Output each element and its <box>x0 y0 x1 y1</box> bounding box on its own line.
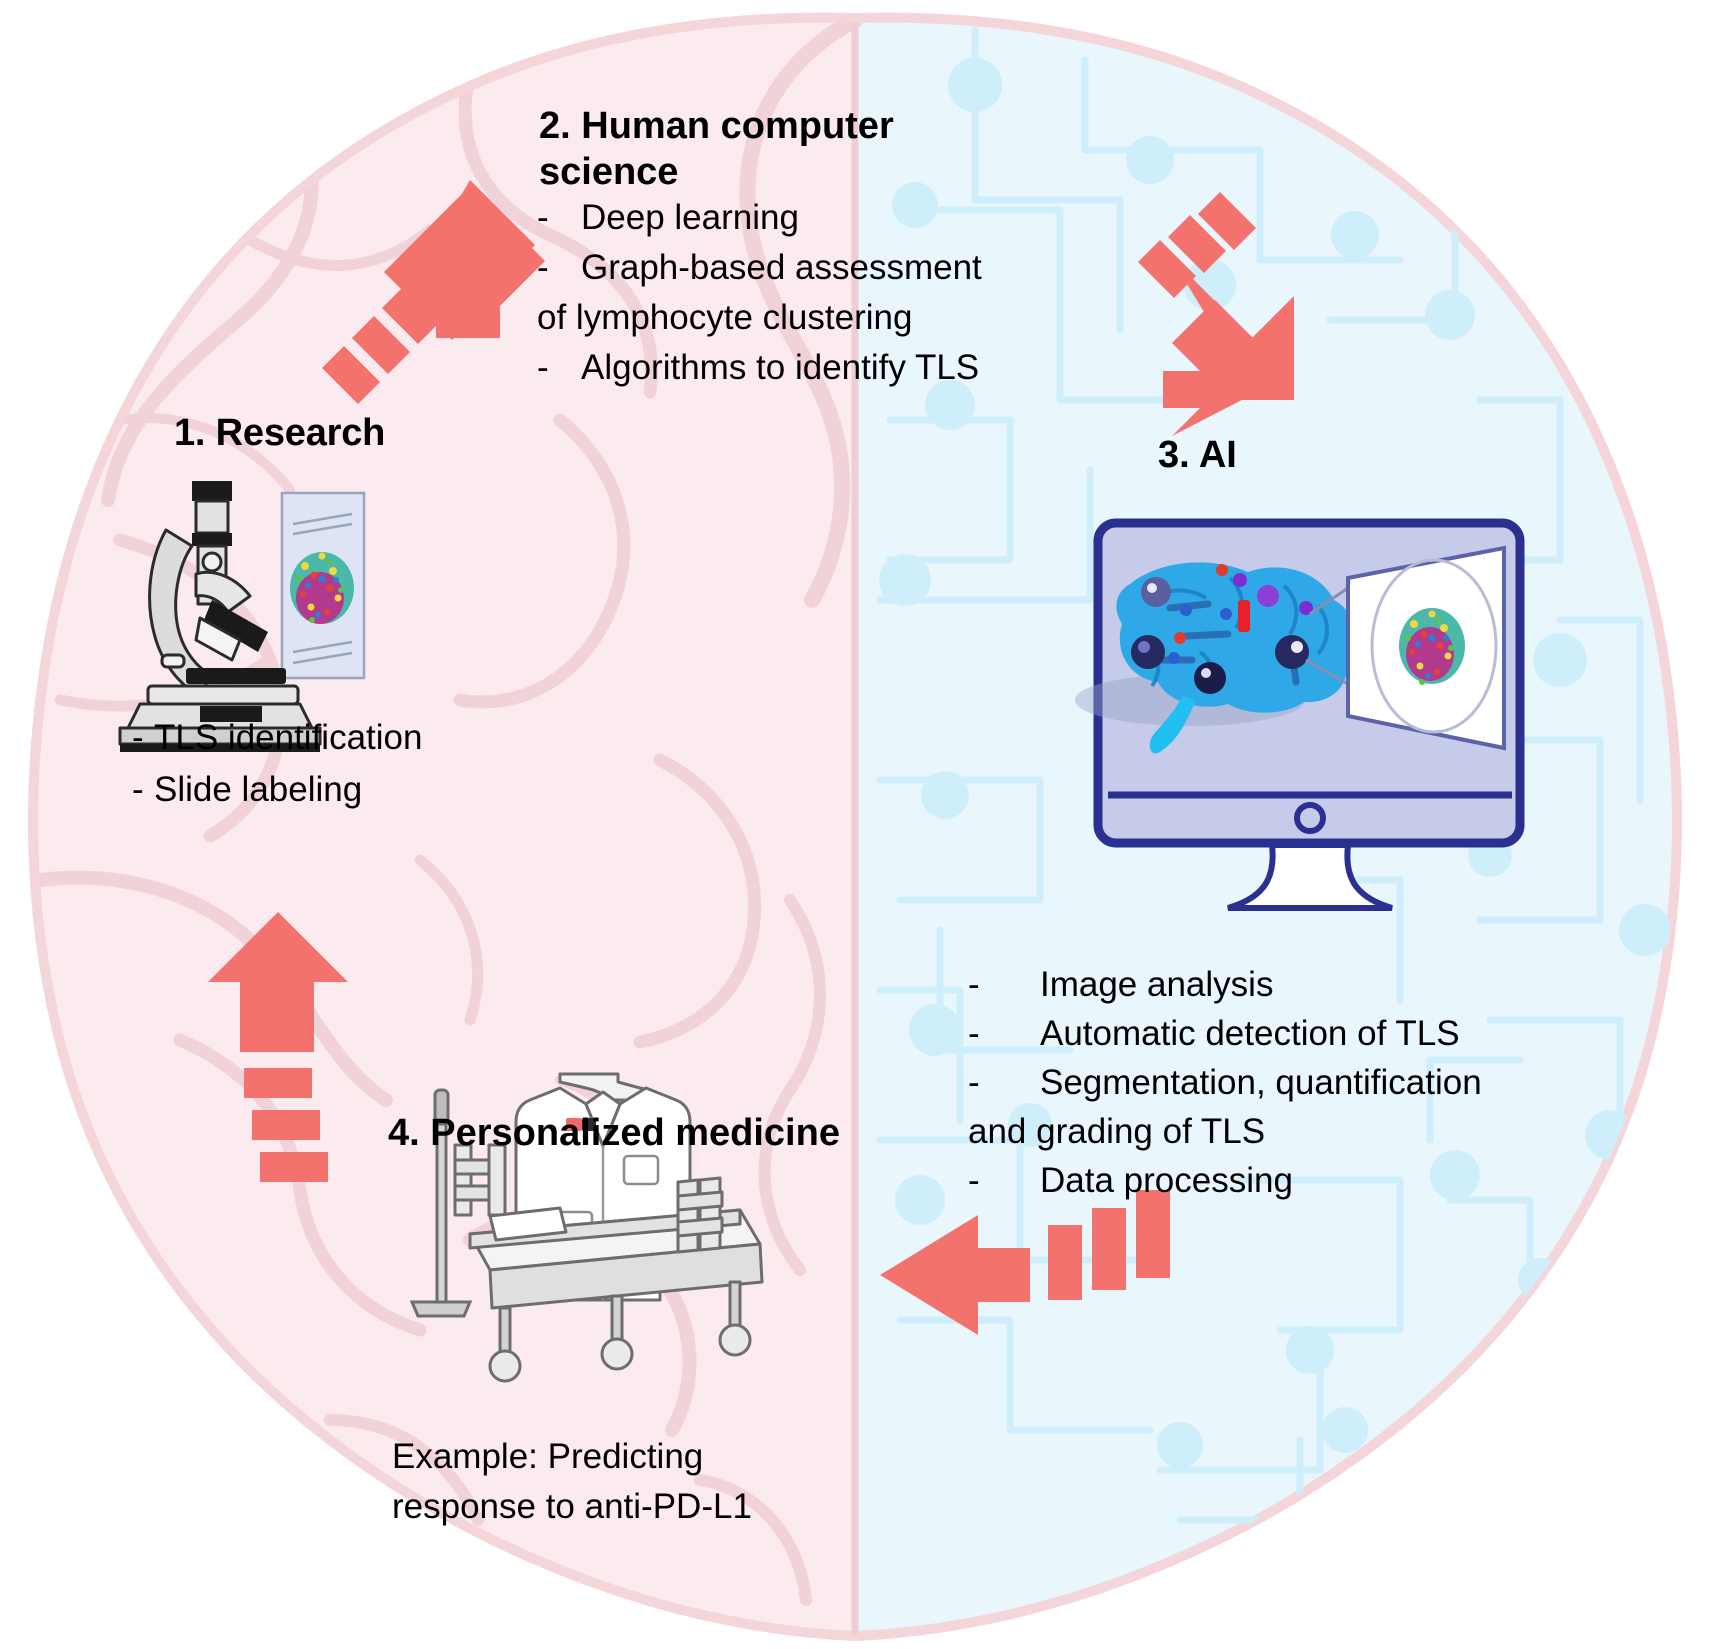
ai-bullet-item: - Data processing <box>968 1156 1482 1205</box>
research-bullets: - TLS identification - Slide labeling <box>132 712 422 816</box>
bullet-dash: - <box>968 1058 1040 1107</box>
hospital-bed-icon <box>455 1145 762 1381</box>
hcs-bullet-item: - Deep learning <box>537 193 982 243</box>
arrow-to-personalized-medicine <box>880 1190 1170 1335</box>
bullet-text: TLS identification <box>154 712 422 764</box>
figure-canvas: 1. Research - TLS identification - Slide… <box>0 0 1711 1649</box>
ai-bullet-item: - Image analysis <box>968 960 1482 1009</box>
hcs-title-line-2: science <box>539 149 959 195</box>
brain-network-icon <box>1075 562 1355 753</box>
arrow-to-human-computer-science <box>322 180 545 404</box>
ai-bullet-item: - Segmentation, quantification and gradi… <box>968 1058 1482 1156</box>
histology-slide-icon <box>282 493 364 678</box>
bullet-dash: - <box>537 243 581 293</box>
arrow-to-ai <box>1138 192 1348 436</box>
bullet-text: Segmentation, quantification <box>1040 1058 1482 1107</box>
magnified-tls-icon <box>1306 548 1504 748</box>
caption-line-2: response to anti-PD-L1 <box>392 1482 752 1532</box>
arrow-to-research <box>208 912 348 1182</box>
bullet-dash: - <box>968 1009 1040 1058</box>
bullet-text: Graph-based assessment <box>581 243 982 293</box>
bullet-text: Algorithms to identify TLS <box>581 343 979 393</box>
bullet-dash: - <box>968 1156 1040 1205</box>
bullet-text-group: Algorithms to identify TLS <box>581 343 979 393</box>
bullet-dash: - <box>132 764 154 816</box>
bullet-text-group: Deep learning <box>581 193 799 243</box>
bullet-text: Deep learning <box>581 193 799 243</box>
personalized-medicine-caption: Example: Predicting response to anti-PD-… <box>392 1432 752 1532</box>
caption-line-1: Example: Predicting <box>392 1432 752 1482</box>
bullet-text-cont: and grading of TLS <box>968 1107 1482 1156</box>
ai-title: 3. AI <box>1158 434 1237 477</box>
tls-cluster-icon <box>290 552 354 624</box>
bullet-text-group: Image analysis <box>1040 960 1273 1009</box>
bullet-dash: - <box>537 343 581 393</box>
research-title: 1. Research <box>174 412 385 455</box>
lab-coat-icon <box>516 1074 690 1300</box>
bullet-text: Slide labeling <box>154 764 362 816</box>
bullet-text: Image analysis <box>1040 960 1273 1009</box>
personalized-medicine-title: 4. Personalized medicine <box>388 1112 840 1155</box>
circuit-nodes <box>879 58 1671 1468</box>
bullet-dash: - <box>537 193 581 243</box>
research-bullet-item: - Slide labeling <box>132 764 422 816</box>
research-bullet-item: - TLS identification <box>132 712 422 764</box>
ai-bullets: - Image analysis - Automatic detection o… <box>968 960 1482 1205</box>
computer-monitor-icon <box>1098 523 1520 908</box>
bullet-text-cont: of lymphocyte clustering <box>537 293 982 343</box>
circuit-traces <box>880 30 1640 1520</box>
ai-bullet-item: - Automatic detection of TLS <box>968 1009 1482 1058</box>
hcs-bullets: - Deep learning - Graph-based assessment… <box>537 193 982 393</box>
bullet-text-group: Graph-based assessment of lymphocyte clu… <box>581 243 982 343</box>
bullet-dash: - <box>968 960 1040 1009</box>
hcs-bullet-item: - Algorithms to identify TLS <box>537 343 982 393</box>
bullet-dash: - <box>132 712 154 764</box>
hcs-bullet-item: - Graph-based assessment of lymphocyte c… <box>537 243 982 343</box>
bullet-text-group: Automatic detection of TLS <box>1040 1009 1460 1058</box>
hcs-title: 2. Human computer science <box>539 103 959 195</box>
bullet-text: Data processing <box>1040 1156 1293 1205</box>
bullet-text-group: Data processing <box>1040 1156 1293 1205</box>
bullet-text-group: Segmentation, quantification and grading… <box>1040 1058 1482 1156</box>
bullet-text: Automatic detection of TLS <box>1040 1009 1460 1058</box>
hcs-title-line-1: 2. Human computer <box>539 103 959 149</box>
right-hemisphere-fill <box>855 0 1711 1649</box>
